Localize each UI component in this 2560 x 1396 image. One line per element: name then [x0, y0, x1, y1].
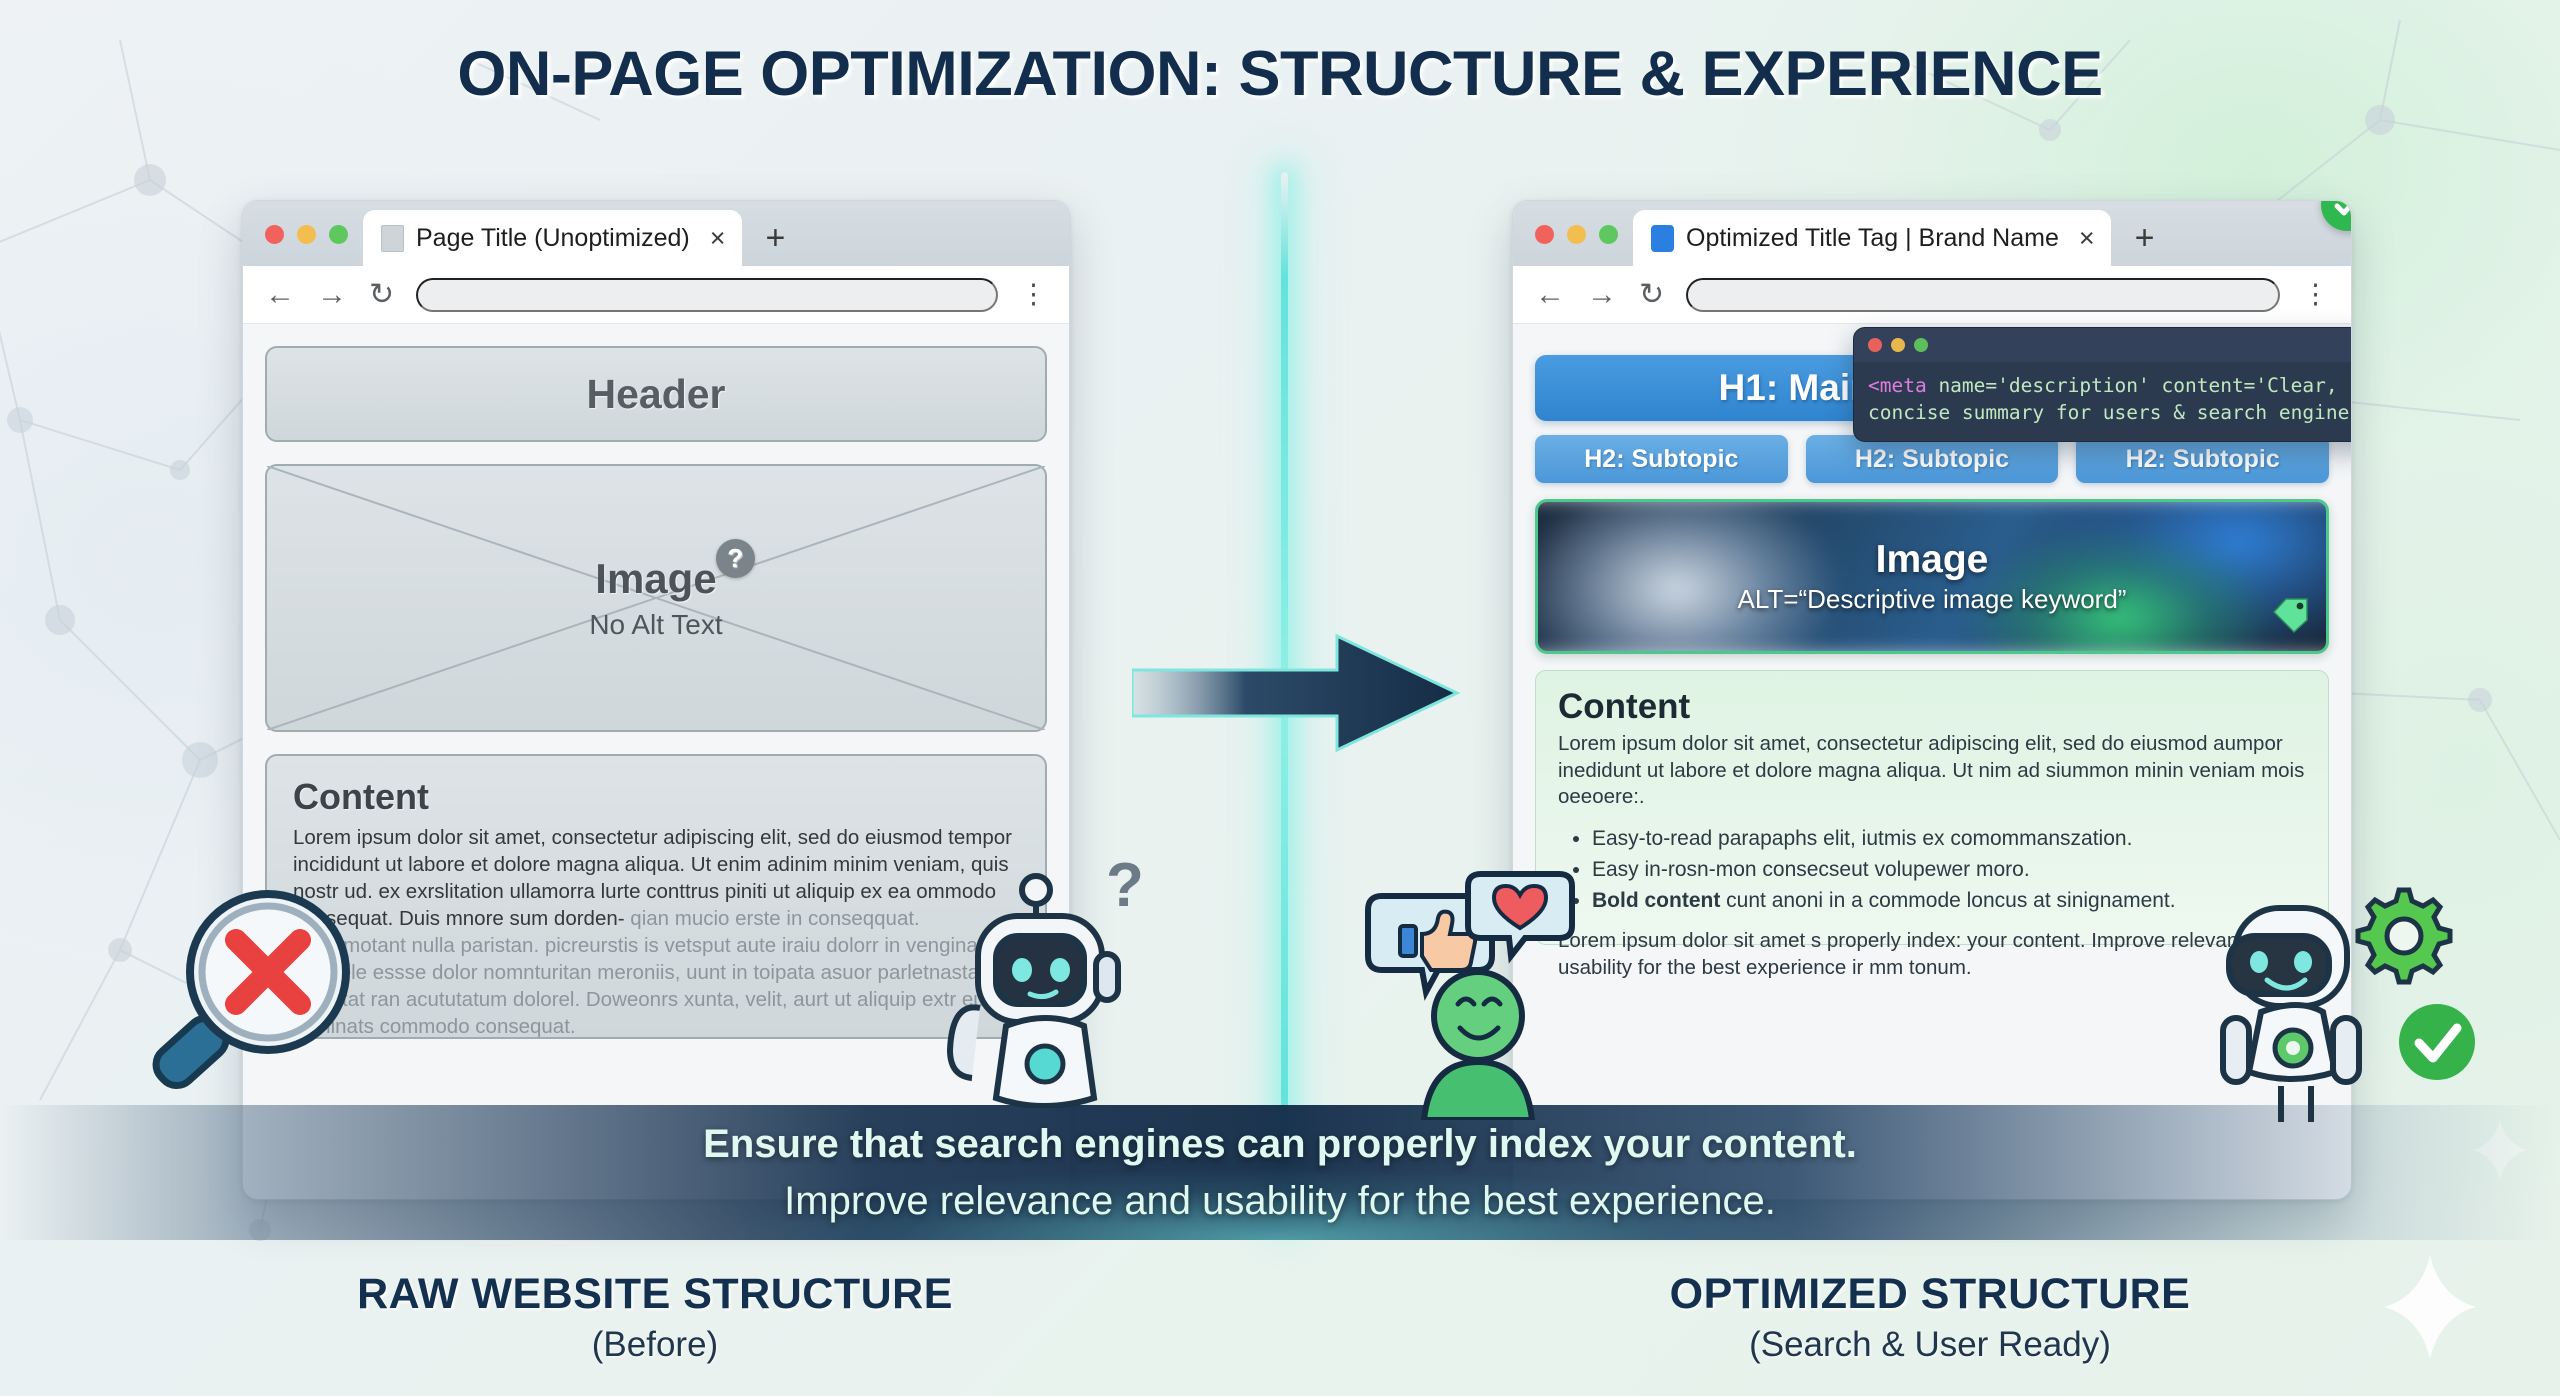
happy-robot-icon — [2223, 908, 2359, 1122]
h2-block: H2: Subtopic — [1806, 435, 2059, 483]
close-icon[interactable]: × — [710, 223, 726, 254]
image-placeholder-block: Image ? No Alt Text — [265, 464, 1047, 732]
maximize-window-dot[interactable] — [1599, 225, 1618, 244]
menu-icon[interactable]: ⋮ — [1020, 279, 1047, 310]
browser-tab-before[interactable]: Page Title (Unoptimized) × — [363, 210, 742, 266]
confused-robot-icon: ? — [930, 858, 1160, 1113]
maximize-window-dot[interactable] — [329, 225, 348, 244]
maximize-window-dot[interactable] — [1914, 338, 1928, 352]
forward-icon[interactable]: → — [1587, 280, 1617, 310]
browser-tab-after[interactable]: Optimized Title Tag | Brand Name × — [1633, 210, 2111, 266]
menu-icon[interactable]: ⋮ — [2302, 279, 2329, 310]
page-title: ON-PAGE OPTIMIZATION: STRUCTURE & EXPERI… — [0, 38, 2560, 110]
image-alt-text: ALT=“Descriptive image keyword” — [1738, 584, 2127, 615]
content-outro-after: Lorem ipsum dolor sit amet s properly in… — [1558, 928, 2306, 981]
h2-row: H2: Subtopic H2: Subtopic H2: Subtopic — [1535, 435, 2329, 483]
bottom-label-before-subtitle: (Before) — [240, 1325, 1070, 1365]
question-mark-icon: ? — [716, 539, 755, 578]
happy-user-icon — [1424, 972, 1532, 1120]
reload-icon[interactable]: ↻ — [1639, 280, 1664, 310]
code-attributes: name='description' content='Clear, conci… — [1868, 374, 2352, 424]
magnifier-error-icon — [140, 880, 360, 1115]
list-item: Easy-to-read parapaphs elit, iutmis ex c… — [1592, 823, 2306, 854]
close-icon[interactable]: × — [2079, 223, 2095, 254]
list-item: Easy in-rosn-mon consecseut volupewer mo… — [1592, 854, 2306, 885]
code-text: <meta name='description' content='Clear,… — [1854, 362, 2352, 441]
reload-icon[interactable]: ↻ — [369, 280, 394, 310]
list-item: Bold content cunt anoni in a commode lon… — [1592, 885, 2306, 916]
window-controls-after[interactable] — [1535, 225, 1618, 244]
browser-tabbar-after: Optimized Title Tag | Brand Name × + — [1513, 201, 2351, 266]
h2-block: H2: Subtopic — [1535, 435, 1788, 483]
window-controls-before[interactable] — [265, 225, 348, 244]
close-window-dot[interactable] — [1868, 338, 1882, 352]
minimize-window-dot[interactable] — [1891, 338, 1905, 352]
user-reactions-group — [1360, 870, 1600, 1125]
tab-title-before: Page Title (Unoptimized) — [416, 224, 690, 253]
content-heading-before: Content — [293, 776, 1019, 818]
bottom-label-after-title: OPTIMIZED STRUCTURE — [1510, 1270, 2350, 1319]
price-tag-icon — [2270, 596, 2310, 639]
tab-title-after: Optimized Title Tag | Brand Name — [1686, 224, 2059, 253]
back-icon[interactable]: ← — [1535, 280, 1565, 310]
content-bullet-list: Easy-to-read parapaphs elit, iutmis ex c… — [1592, 823, 2306, 916]
list-item-bold: Bold content — [1592, 889, 1720, 912]
header-label: Header — [586, 371, 725, 418]
image-label-text: Image — [595, 555, 716, 602]
gear-icon — [2358, 890, 2450, 982]
caption-line-1: Ensure that search engines can properly … — [703, 1116, 1857, 1173]
meta-description-code-snippet: <meta name='description' content='Clear,… — [1853, 327, 2352, 442]
back-icon[interactable]: ← — [265, 280, 295, 310]
right-arrow-icon — [1132, 608, 1462, 778]
close-window-dot[interactable] — [265, 225, 284, 244]
new-tab-button[interactable]: + — [2135, 219, 2155, 258]
header-placeholder-block: Header — [265, 346, 1047, 442]
list-item-text: Easy in-rosn-mon consecseut volupewer mo… — [1592, 858, 2030, 881]
blank-document-icon — [381, 225, 404, 252]
browser-toolbar-before: ← → ↻ ⋮ — [243, 266, 1069, 324]
content-intro-after: Lorem ipsum dolor sit amet, consectetur … — [1558, 731, 2306, 811]
list-item-text: Easy-to-read parapaphs elit, iutmis ex c… — [1592, 827, 2132, 850]
bottom-label-after: OPTIMIZED STRUCTURE (Search & User Ready… — [1510, 1270, 2350, 1365]
address-bar-after[interactable] — [1686, 278, 2280, 312]
bottom-label-after-subtitle: (Search & User Ready) — [1510, 1325, 2350, 1365]
blue-square-favicon-icon — [1651, 225, 1674, 252]
close-window-dot[interactable] — [1535, 225, 1554, 244]
new-tab-button[interactable]: + — [766, 219, 786, 258]
h2-label: H2: Subtopic — [2126, 445, 2280, 474]
code-window-titlebar — [1854, 328, 2352, 362]
minimize-window-dot[interactable] — [297, 225, 316, 244]
no-alt-text-note: No Alt Text — [589, 609, 722, 641]
optimized-image-block: Image ALT=“Descriptive image keyword” — [1535, 499, 2329, 654]
forward-icon[interactable]: → — [317, 280, 347, 310]
code-tag: <meta — [1868, 374, 1927, 397]
image-label: Image — [1876, 538, 1989, 582]
browser-toolbar-after: ← → ↻ ⋮ — [1513, 266, 2351, 324]
h2-block: H2: Subtopic — [2076, 435, 2329, 483]
content-block-after: Content Lorem ipsum dolor sit amet, cons… — [1535, 670, 2329, 945]
h2-label: H2: Subtopic — [1855, 445, 2009, 474]
h2-label: H2: Subtopic — [1584, 445, 1738, 474]
caption-band: Ensure that search engines can properly … — [0, 1105, 2560, 1240]
content-body-before: Lorem ipsum dolor sit amet, consectetur … — [293, 824, 1019, 1040]
caption-line-2: Improve relevance and usability for the … — [784, 1173, 1776, 1230]
bottom-label-before-title: RAW WEBSITE STRUCTURE — [240, 1270, 1070, 1319]
bottom-label-before: RAW WEBSITE STRUCTURE (Before) — [240, 1270, 1070, 1365]
content-heading-after: Content — [1558, 687, 2306, 727]
minimize-window-dot[interactable] — [1567, 225, 1586, 244]
image-label: Image ? — [595, 555, 716, 603]
address-bar-before[interactable] — [416, 278, 998, 312]
check-circle-icon — [2399, 1004, 2475, 1080]
browser-tabbar-before: Page Title (Unoptimized) × + — [243, 201, 1069, 266]
svg-text:?: ? — [1106, 858, 1144, 920]
list-item-text: cunt anoni in a commode loncus at sinign… — [1720, 889, 2175, 912]
happy-robot-group — [2215, 880, 2505, 1135]
